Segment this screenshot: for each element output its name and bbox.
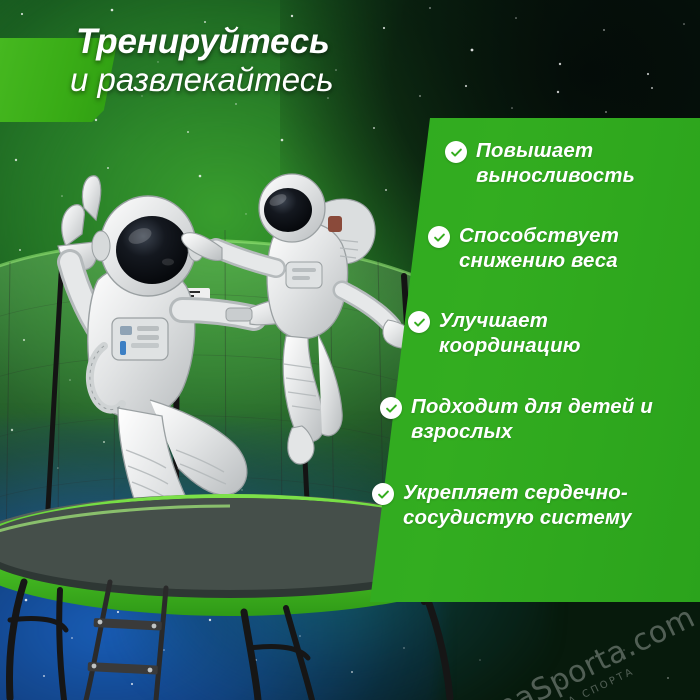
benefit-item-endurance: Повышает выносливость (445, 138, 677, 188)
benefit-item-cardio: Укрепляет сердечно-сосудистую систему (372, 480, 690, 530)
promo-banner: Тренируйтесь и развлекайтесь (0, 0, 700, 700)
benefit-text: Подходит для детей и взрослых (411, 394, 680, 444)
check-circle-icon (428, 226, 450, 248)
title-line-2: и развлекайтесь (70, 63, 456, 97)
benefits-panel: Повышает выносливость Способствует сниже… (350, 118, 700, 602)
benefit-text: Повышает выносливость (476, 138, 677, 188)
check-circle-icon (408, 311, 430, 333)
check-circle-icon (380, 397, 402, 419)
benefit-text: Способствует снижению веса (459, 223, 680, 273)
banner-title: Тренируйтесь и развлекайтесь (76, 24, 456, 96)
benefit-text: Улучшает координацию (439, 308, 658, 358)
benefit-item-coordination: Улучшает координацию (408, 308, 658, 358)
benefit-text: Укрепляет сердечно-сосудистую систему (403, 480, 690, 530)
check-circle-icon (445, 141, 467, 163)
check-circle-icon (372, 483, 394, 505)
benefit-item-weight-loss: Способствует снижению веса (428, 223, 680, 273)
title-line-1: Тренируйтесь (76, 24, 456, 60)
benefit-item-all-ages: Подходит для детей и взрослых (380, 394, 680, 444)
